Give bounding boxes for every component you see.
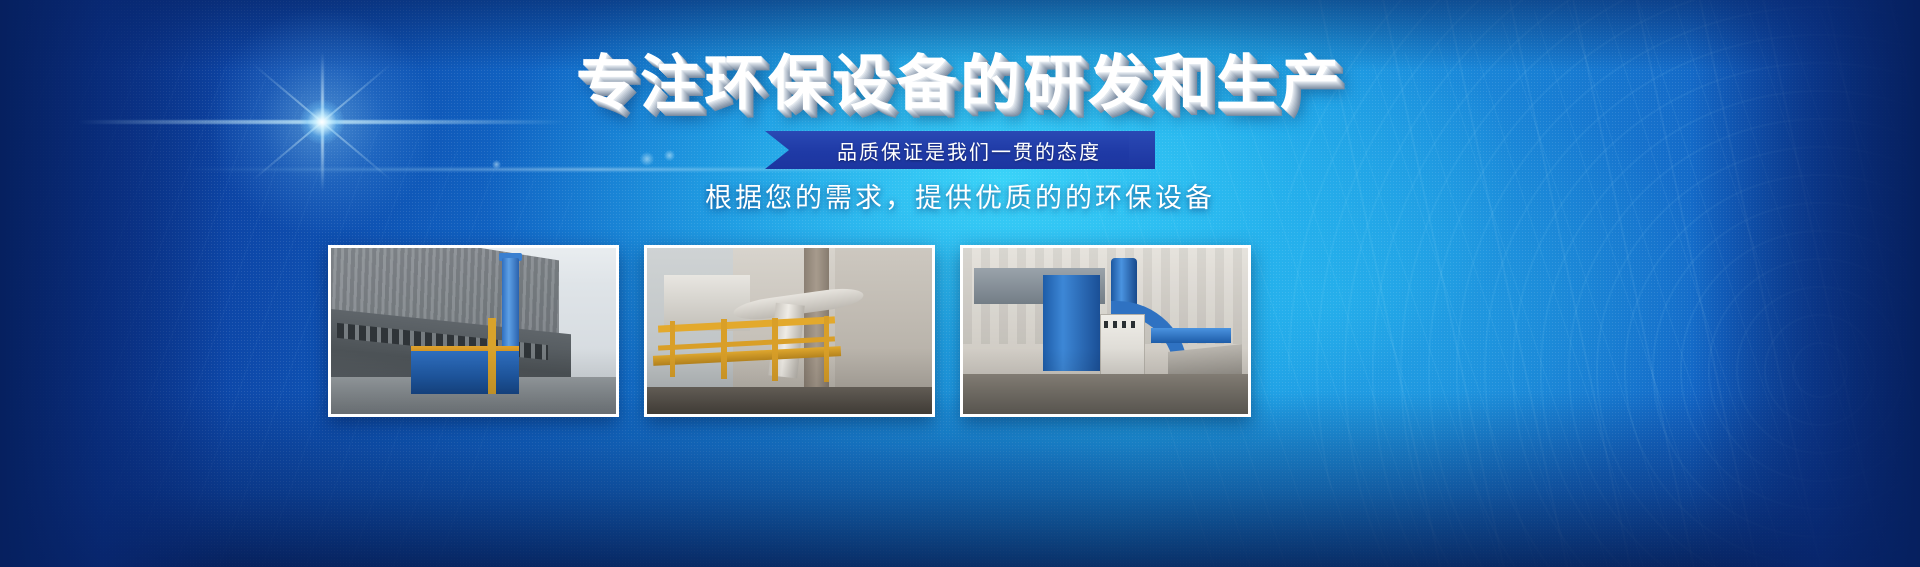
photo-item[interactable] — [328, 245, 619, 417]
banner-content: 专注环保设备的研发和生产 品质保证是我们一贯的态度 根据您的需求，提供优质的的环… — [0, 0, 1920, 567]
banner-tagline: 根据您的需求，提供优质的的环保设备 — [0, 176, 1920, 215]
quality-ribbon-badge: 品质保证是我们一贯的态度 — [765, 131, 1155, 169]
banner-headline: 专注环保设备的研发和生产 — [0, 52, 1920, 117]
photo-item[interactable] — [960, 245, 1251, 417]
photo-item[interactable] — [644, 245, 935, 417]
photo-strip — [328, 245, 1251, 417]
ribbon-label: 品质保证是我们一贯的态度 — [819, 136, 1101, 165]
hero-banner: 专注环保设备的研发和生产 品质保证是我们一贯的态度 根据您的需求，提供优质的的环… — [0, 0, 1920, 567]
